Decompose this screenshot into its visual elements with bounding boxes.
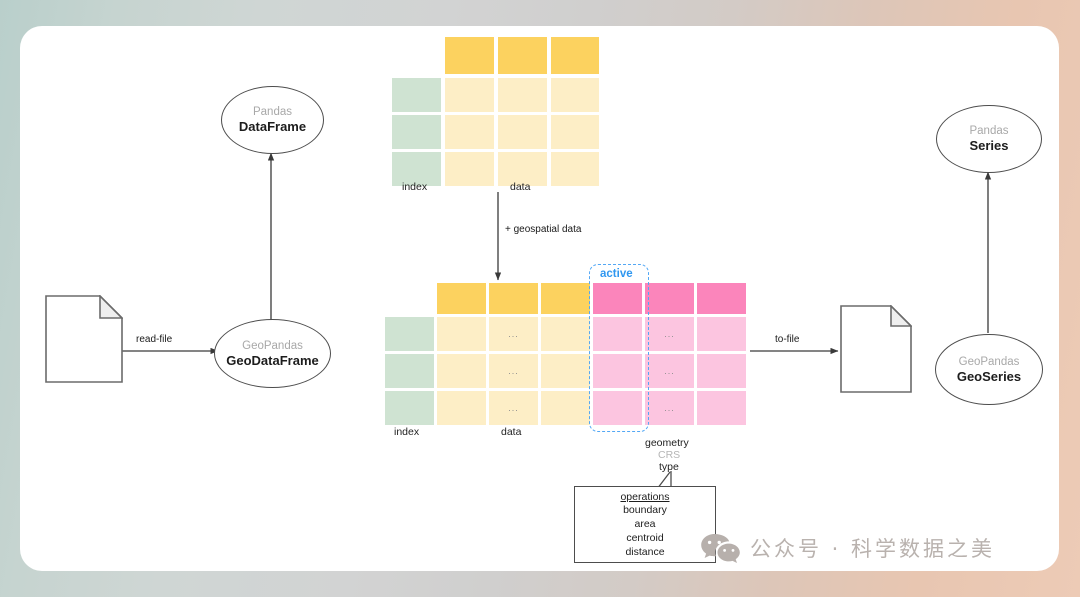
wechat-logo-icon bbox=[700, 532, 740, 564]
main-table-data-cell: ... bbox=[489, 317, 538, 351]
main-table-index-label: index bbox=[394, 426, 419, 438]
operations-item-area[interactable]: area bbox=[634, 518, 655, 532]
main-table-data-cell bbox=[541, 317, 590, 351]
main-table-index-cell bbox=[385, 317, 434, 351]
screenshot-stage: Pandas DataFrame GeoPandas GeoDataFrame … bbox=[0, 0, 1080, 597]
main-table-geometry-cell bbox=[697, 354, 746, 388]
main-table-data-cell bbox=[541, 354, 590, 388]
watermark: 公众号 · 科学数据之美 bbox=[700, 532, 995, 564]
main-table-index-cell bbox=[385, 354, 434, 388]
operations-item-distance[interactable]: distance bbox=[625, 546, 664, 560]
main-table-data-cell bbox=[541, 391, 590, 425]
main-table-geometry-cell bbox=[697, 317, 746, 351]
operations-item-boundary[interactable]: boundary bbox=[623, 504, 667, 518]
main-table-header-cell-data bbox=[489, 283, 538, 314]
main-table-data-cell: ... bbox=[489, 391, 538, 425]
main-table-type-label: type bbox=[659, 461, 679, 473]
watermark-text: 公众号 · 科学数据之美 bbox=[750, 533, 995, 563]
main-table-data-cell: ... bbox=[489, 354, 538, 388]
operations-box: operations boundary area centroid distan… bbox=[574, 486, 716, 563]
main-table-header-cell-geometry bbox=[645, 283, 694, 314]
main-table-data-cell bbox=[437, 391, 486, 425]
main-table-data-cell bbox=[437, 317, 486, 351]
main-table-header-cell-geometry bbox=[697, 283, 746, 314]
operations-item-centroid[interactable]: centroid bbox=[626, 532, 663, 546]
main-table-geometry-cell: ... bbox=[645, 317, 694, 351]
main-table-header-cell-data bbox=[437, 283, 486, 314]
operations-title: operations bbox=[620, 491, 669, 503]
main-table-index-cell bbox=[385, 391, 434, 425]
main-table-geometry-cell bbox=[697, 391, 746, 425]
main-table-geometry-cell: ... bbox=[645, 354, 694, 388]
main-table: ... ... ... ... ... ... active index dat… bbox=[0, 0, 1080, 597]
main-table-data-label: data bbox=[501, 426, 521, 438]
main-table-header-cell-data bbox=[541, 283, 590, 314]
active-column-highlight[interactable] bbox=[589, 264, 649, 432]
active-column-label: active bbox=[600, 268, 633, 280]
main-table-data-cell bbox=[437, 354, 486, 388]
main-table-geometry-cell: ... bbox=[645, 391, 694, 425]
main-table-geometry-label: geometry bbox=[645, 437, 689, 449]
main-table-crs-label: CRS bbox=[658, 449, 680, 461]
